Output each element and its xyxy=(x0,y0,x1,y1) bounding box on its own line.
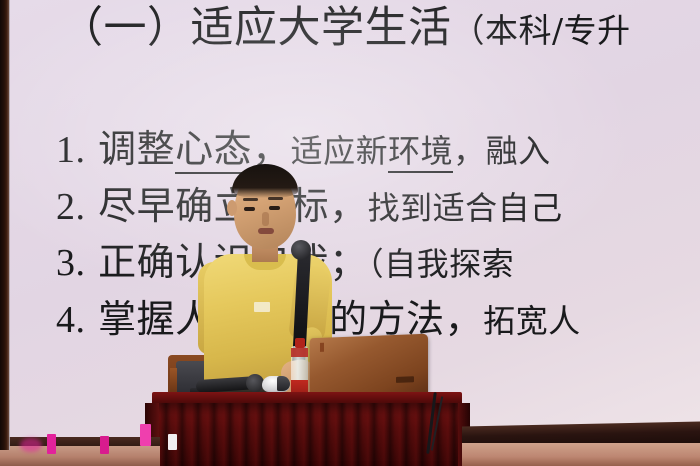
floor-right xyxy=(462,443,700,466)
presenter-brow-left xyxy=(243,198,258,201)
presenter-mouth xyxy=(258,228,274,234)
slide-item-1-text: 调整 xyxy=(98,127,175,171)
presenter-badge xyxy=(254,302,270,312)
bottle-cap xyxy=(295,338,305,348)
screen-frame-left xyxy=(0,0,9,450)
slide-item-3-number: 3. xyxy=(56,242,86,284)
table-skirt xyxy=(150,403,466,466)
slide-item-1-tail-end: ，融入 xyxy=(453,132,551,170)
presenter-ear xyxy=(227,200,237,216)
slide-item-4-number: 4. xyxy=(56,299,86,341)
slide-item-4-tail: 拓宽人 xyxy=(483,302,581,340)
slide-item-1-number: 1. xyxy=(56,129,86,171)
bottle-label-top xyxy=(291,348,308,357)
decoration-4 xyxy=(168,434,177,450)
presenter-eye-right xyxy=(269,206,280,210)
decoration-2 xyxy=(100,436,109,454)
slide-title-main: 适应大学生活 xyxy=(191,3,452,53)
laptop-logo xyxy=(396,376,414,383)
decoration-1 xyxy=(47,434,56,454)
decoration-glow xyxy=(20,438,42,452)
laptop-hinge-marker xyxy=(320,343,324,352)
lecture-photo: （一）适应大学生活（本科/专升 1. 调整心态，适应新环境，融入 2. 尽早确立… xyxy=(0,0,700,466)
presenter-hair xyxy=(232,164,298,198)
laptop xyxy=(310,334,428,401)
microphone-head-icon xyxy=(291,240,311,260)
presenter-brow-right xyxy=(268,197,283,200)
slide-item-2-tail: 找到适合自己 xyxy=(368,189,563,227)
slide-item-3-tail: （自我探索 xyxy=(368,245,515,283)
slide-title-note: （本科/专升 xyxy=(452,11,631,50)
slide-item-1-tail-underlined: 环境 xyxy=(388,132,453,173)
computer-mouse-shadow xyxy=(277,376,290,391)
slide-title-prefix: （一） xyxy=(60,3,191,53)
presenter-nose xyxy=(262,212,269,226)
slide-content: （一）适应大学生活（本科/专升 1. 调整心态，适应新环境，融入 2. 尽早确立… xyxy=(0,0,700,360)
slide-item-2-number: 2. xyxy=(56,186,86,228)
presenter-eye-left xyxy=(244,207,255,211)
slide-title: （一）适应大学生活（本科/专升 xyxy=(60,6,631,51)
decoration-3 xyxy=(140,424,151,446)
